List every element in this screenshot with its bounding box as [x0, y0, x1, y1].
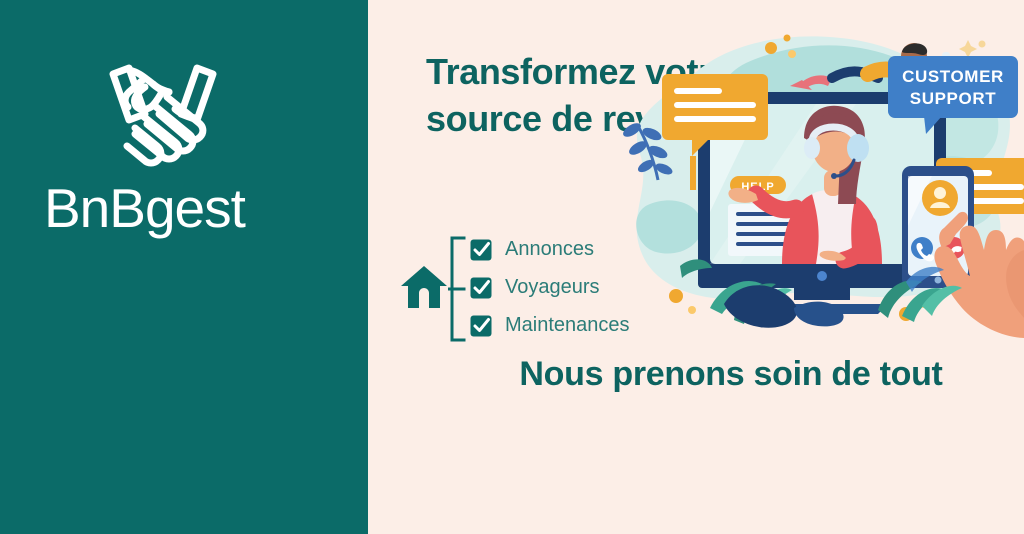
support-badge-line2: SUPPORT: [910, 89, 996, 108]
checkbox-checked-icon: [470, 314, 493, 337]
feature-item-annonces[interactable]: Annonces: [470, 234, 594, 264]
feature-label: Annonces: [505, 237, 594, 261]
feature-label: Voyageurs: [505, 275, 600, 299]
handshake-icon: [83, 52, 243, 172]
brand-wordmark: BnBgest: [44, 176, 364, 240]
promo-banner: BnBgest Transformez votre domicile en so…: [0, 0, 1024, 534]
dot-decoration: [765, 42, 777, 54]
support-badge-line1: CUSTOMER: [902, 67, 1004, 86]
checkbox-checked-icon: [470, 276, 493, 299]
home-icon: [400, 264, 448, 310]
customer-support-illustration: CUSTOMER SUPPORT: [606, 8, 1024, 368]
checkbox-checked-icon: [470, 238, 493, 261]
brand-panel: BnBgest: [0, 0, 368, 534]
feature-item-voyageurs[interactable]: Voyageurs: [470, 272, 600, 302]
content-panel: Transformez votre domicile en source de …: [368, 0, 1024, 534]
bracket-connector: [448, 236, 470, 342]
tagline: Nous prenons soin de tout: [516, 352, 946, 396]
